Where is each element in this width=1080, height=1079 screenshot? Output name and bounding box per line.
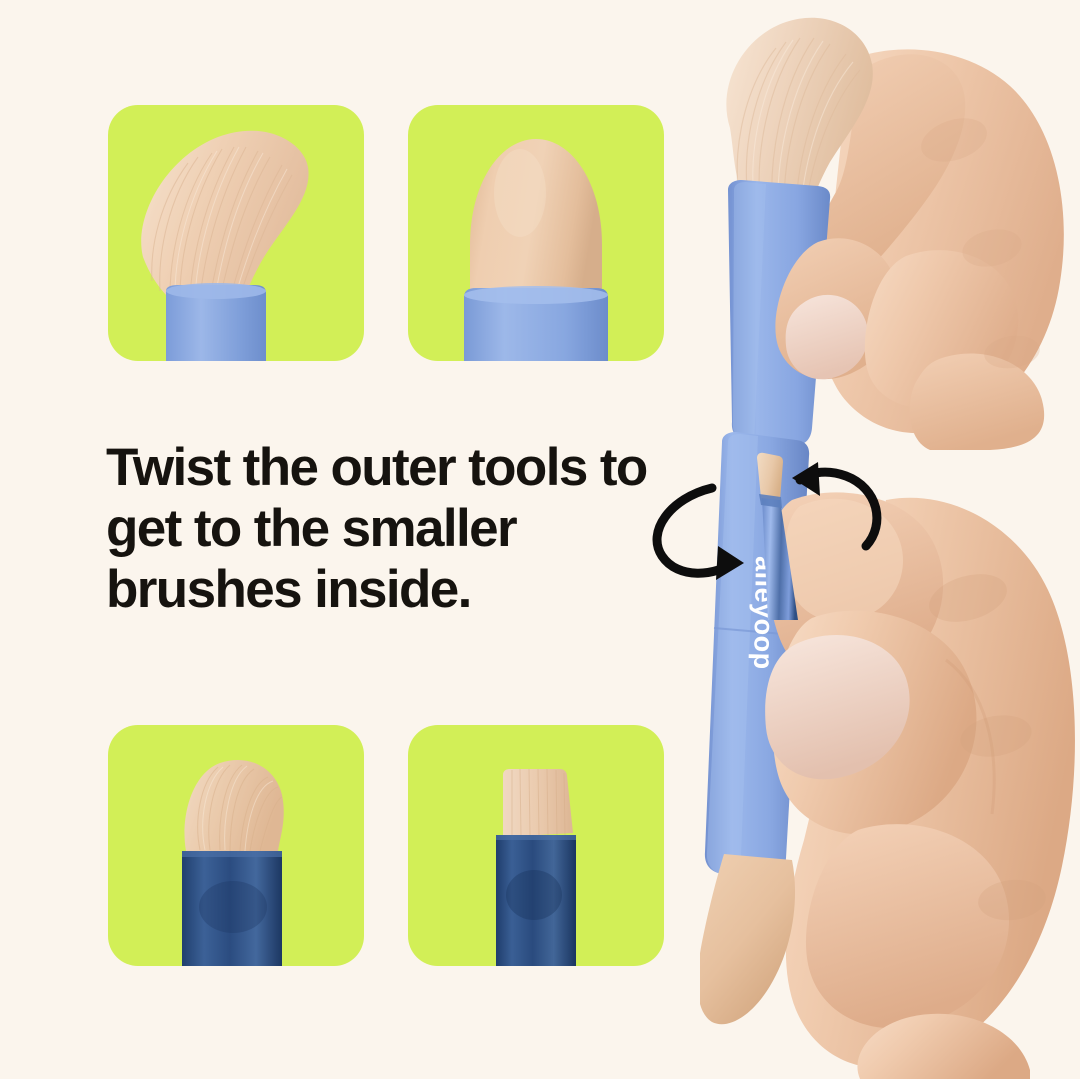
angled-powder-brush-icon: [108, 105, 364, 361]
headline-text: Twist the outer tools to get to the smal…: [106, 437, 666, 621]
infographic-canvas: Twist the outer tools to get to the smal…: [0, 0, 1080, 1079]
twist-rotate-indicator: [640, 440, 900, 620]
twist-arrow-right-head-icon: [792, 462, 820, 496]
tile-rounded-blending-brush: [108, 725, 364, 966]
dome-sponge-icon: [408, 105, 664, 361]
twist-arrow-left-head-icon: [716, 546, 744, 580]
tile-angled-powder-brush: [108, 105, 364, 361]
flat-angled-liner-brush-icon: [408, 725, 664, 966]
tile-dome-sponge: [408, 105, 664, 361]
tile-flat-angled-liner-brush: [408, 725, 664, 966]
rounded-blending-brush-icon: [108, 725, 364, 966]
photo-hand-with-powder-brush: [700, 0, 1080, 450]
